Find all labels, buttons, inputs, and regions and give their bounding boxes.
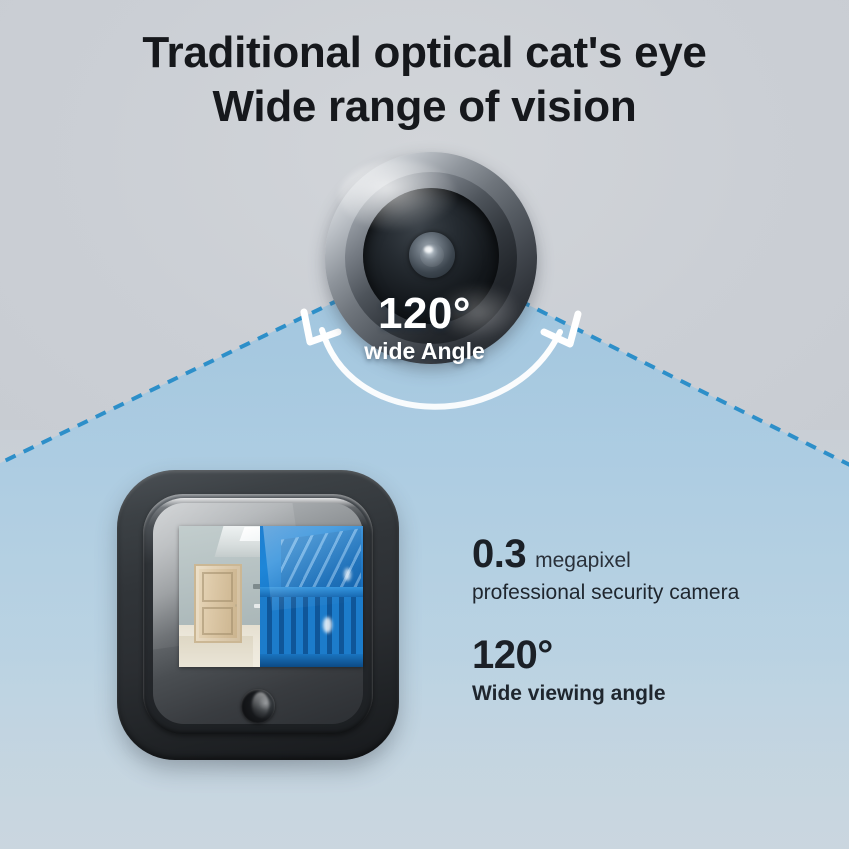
spec-value: 0.3 xyxy=(472,534,526,574)
screen-scene-hallway xyxy=(179,526,363,667)
spec-item-viewing-angle: 120° Wide viewing angle xyxy=(472,635,802,706)
page-title: Traditional optical cat's eye Wide range… xyxy=(0,26,849,133)
peephole-lens-glint xyxy=(424,246,433,253)
scene-door-panel-upper xyxy=(202,572,234,602)
scene-door xyxy=(194,564,242,643)
scene-door-knob xyxy=(235,604,237,607)
spec-description: professional security camera xyxy=(472,581,802,605)
spec-list: 0.3 megapixel professional security came… xyxy=(472,534,802,736)
scene-handrail-top xyxy=(260,587,363,597)
peephole-highlight-bottom xyxy=(435,284,521,340)
scene-staircase xyxy=(260,526,363,667)
peephole-highlight-top xyxy=(339,160,457,230)
product-graphic-canvas: 120° wide Angle Traditional optical cat'… xyxy=(0,0,849,849)
headline-line-1: Traditional optical cat's eye xyxy=(0,26,849,80)
spec-description: Wide viewing angle xyxy=(472,682,802,706)
scene-door-panel-lower xyxy=(202,607,234,635)
digital-door-viewer xyxy=(117,470,399,760)
spec-value-row: 120° xyxy=(472,635,802,675)
optical-peephole-lens xyxy=(325,152,537,364)
headline-line-2: Wide range of vision xyxy=(0,80,849,134)
scene-handrail-bottom xyxy=(260,654,363,667)
spec-unit: megapixel xyxy=(535,550,631,571)
spec-value-row: 0.3 megapixel xyxy=(472,534,802,574)
scene-glint-2 xyxy=(344,568,351,581)
spec-item-megapixel: 0.3 megapixel professional security came… xyxy=(472,534,802,605)
spec-value: 120° xyxy=(472,635,553,675)
device-power-button-gloss xyxy=(252,692,269,718)
device-screen xyxy=(179,526,363,667)
